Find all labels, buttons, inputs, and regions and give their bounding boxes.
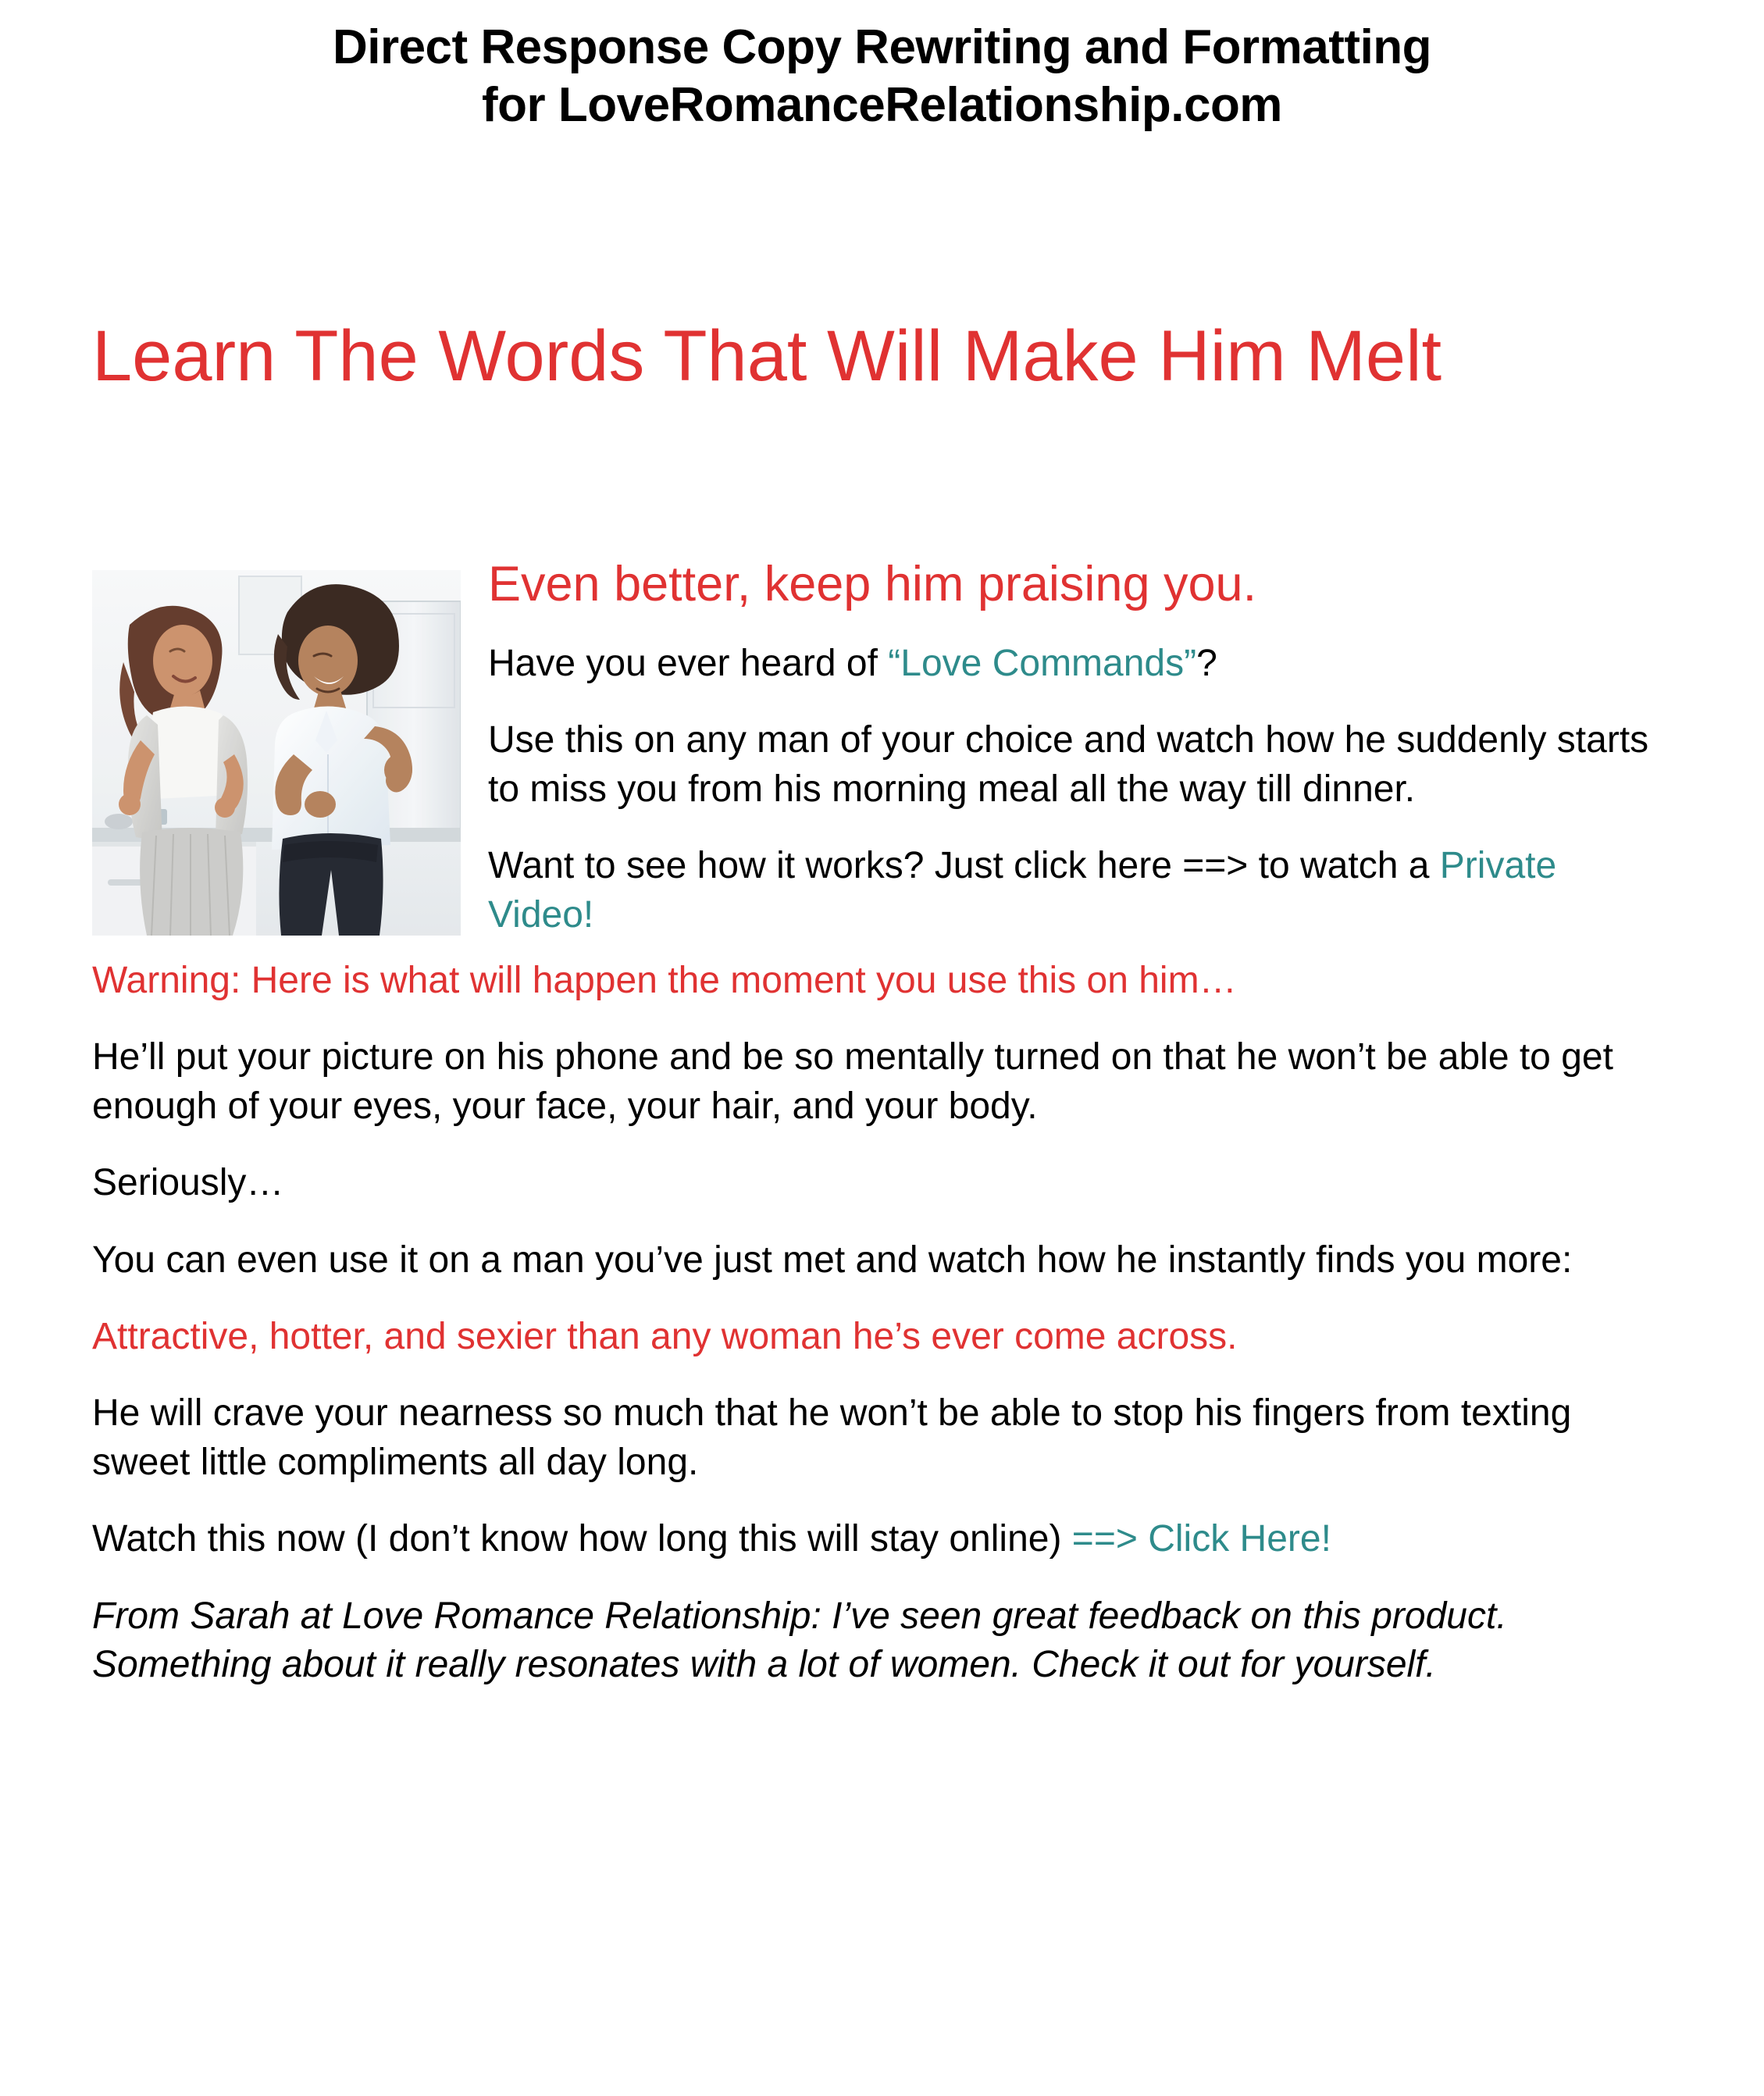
document-title-line-1: Direct Response Copy Rewriting and Forma…	[141, 19, 1623, 77]
hero-photo	[92, 570, 461, 936]
body-paragraph-6: You can even use it on a man you’ve just…	[92, 1236, 1670, 1285]
hero-p1-text-before: Have you ever heard of	[488, 643, 888, 684]
hero-block: Even better, keep him praising you. Have…	[92, 556, 1670, 939]
love-commands-link[interactable]: “Love Commands”	[888, 643, 1196, 684]
document-title-line-2: for LoveRomanceRelationship.com	[141, 77, 1623, 134]
hero-p1-text-after: ?	[1196, 643, 1217, 684]
hero-subheadline: Even better, keep him praising you.	[488, 556, 1670, 613]
hero-paragraph-1: Have you ever heard of “Love Commands”?	[488, 640, 1670, 688]
body-paragraph-4: He’ll put your picture on his phone and …	[92, 1033, 1670, 1131]
hero-p3-text-before: Want to see how it works? Just click her…	[488, 845, 1440, 886]
signoff-note: From Sarah at Love Romance Relationship:…	[92, 1592, 1670, 1690]
hero-paragraph-3: Want to see how it works? Just click her…	[488, 842, 1670, 939]
body-p8-text-before: Watch this now (I don’t know how long th…	[92, 1518, 1072, 1560]
click-here-link[interactable]: ==> Click Here!	[1072, 1518, 1331, 1560]
body-paragraph-8: Watch this now (I don’t know how long th…	[92, 1515, 1670, 1563]
benefit-line: Attractive, hotter, and sexier than any …	[92, 1313, 1670, 1361]
document-page: Direct Response Copy Rewriting and Forma…	[0, 0, 1764, 2096]
body-region: Even better, keep him praising you. Have…	[92, 556, 1670, 1689]
body-copy: Warning: Here is what will happen the mo…	[92, 957, 1670, 1689]
document-title: Direct Response Copy Rewriting and Forma…	[0, 0, 1764, 135]
body-paragraph-5: Seriously…	[92, 1159, 1670, 1207]
body-paragraph-7: He will crave your nearness so much that…	[92, 1389, 1670, 1487]
hero-paragraph-2: Use this on any man of your choice and w…	[488, 716, 1670, 814]
hero-text-column: Even better, keep him praising you. Have…	[488, 556, 1670, 939]
main-headline: Learn The Words That Will Make Him Melt	[92, 312, 1615, 400]
warning-line: Warning: Here is what will happen the mo…	[92, 957, 1670, 1005]
